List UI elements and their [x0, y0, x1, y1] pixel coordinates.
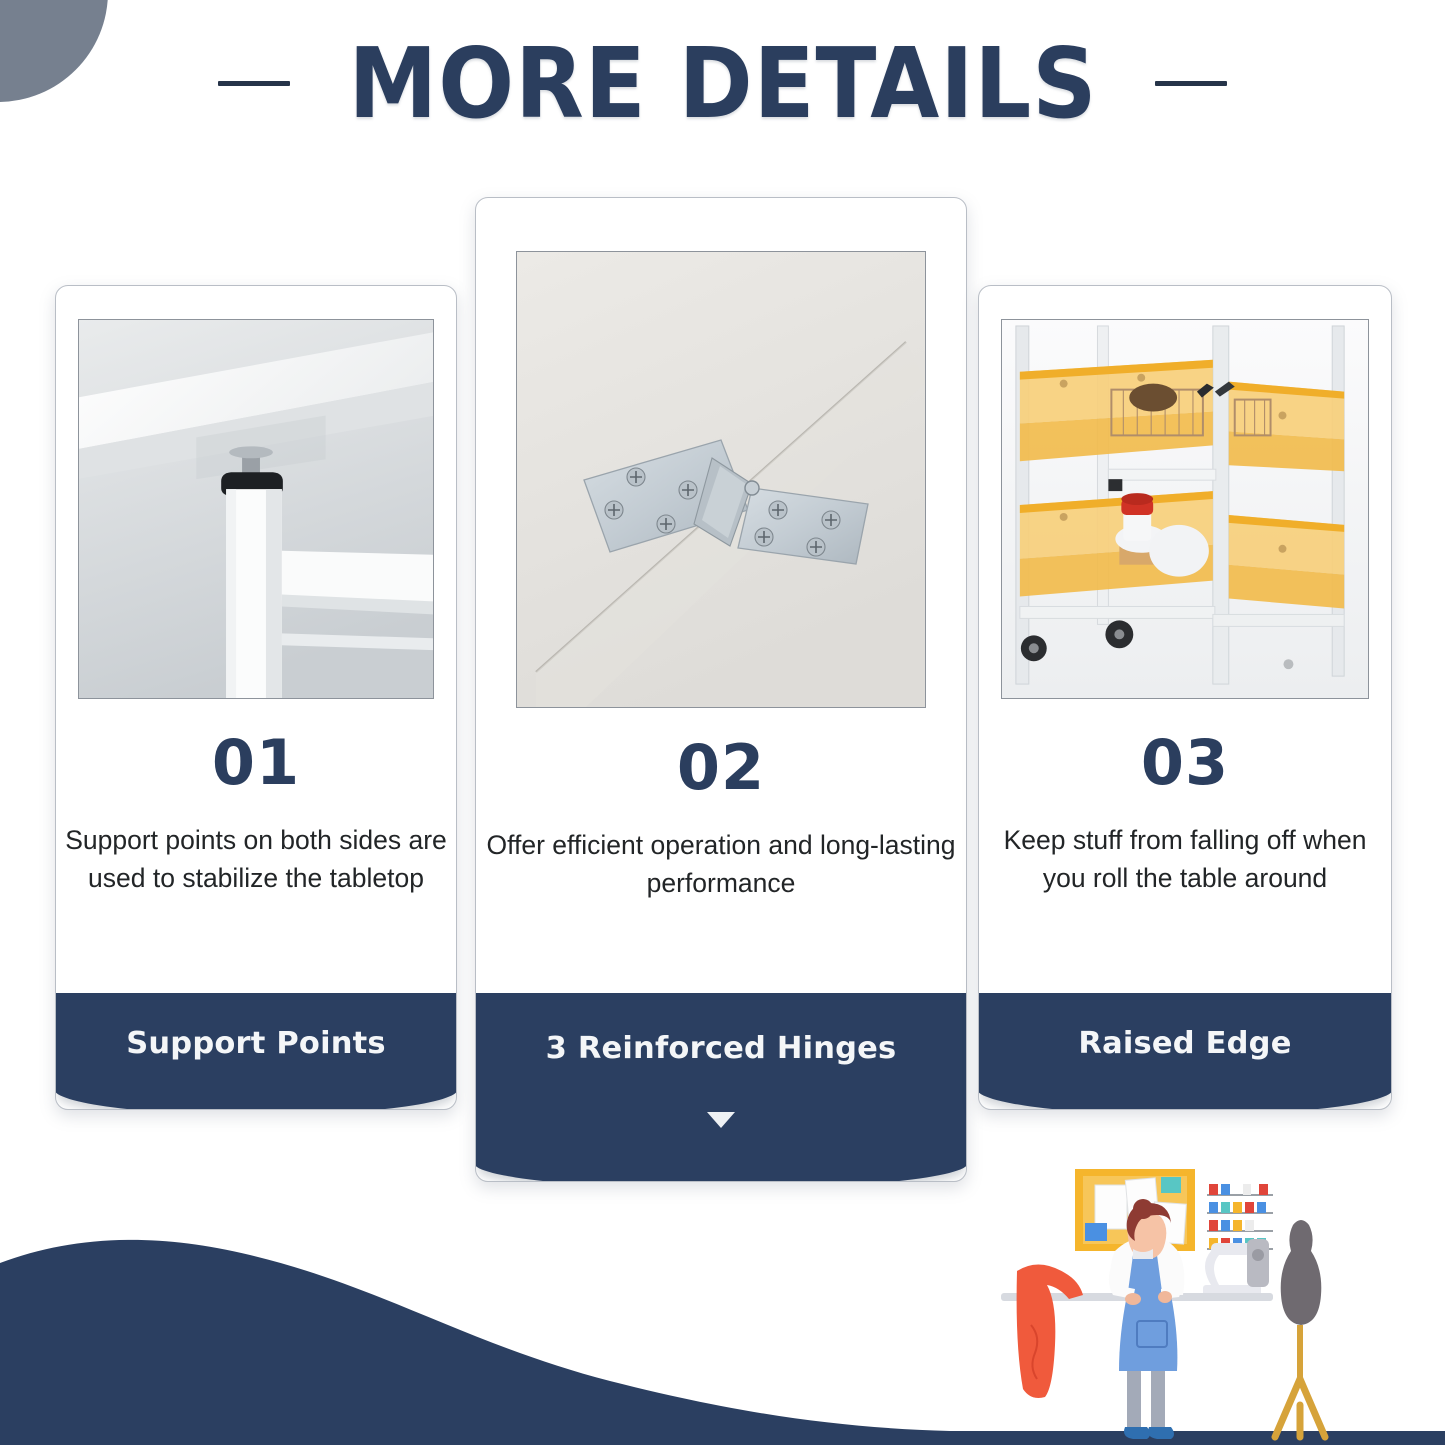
sewing-room-illustration [975, 1155, 1445, 1445]
card-banner-label: Raised Edge [1078, 1026, 1291, 1061]
red-fabric-icon [1017, 1264, 1083, 1398]
card-description: Offer efficient operation and long-lasti… [482, 826, 960, 902]
card-banner: Raised Edge [978, 993, 1392, 1110]
card-number: 02 [476, 731, 966, 804]
card-photo-support-point [78, 319, 434, 699]
detail-cards-container: 01 Support points on both sides are used… [0, 0, 1445, 1200]
card-banner-label: 3 Reinforced Hinges [546, 1031, 897, 1066]
detail-card-support-points[interactable]: 01 Support points on both sides are used… [55, 285, 457, 1110]
card-banner-label: Support Points [126, 1026, 386, 1061]
detail-card-raised-edge[interactable]: 03 Keep stuff from falling off when you … [978, 285, 1392, 1110]
detail-card-reinforced-hinges[interactable]: 02 Offer efficient operation and long-la… [475, 197, 967, 1182]
card-description: Keep stuff from falling off when you rol… [985, 821, 1385, 897]
card-photo-raised-edge [1001, 319, 1369, 699]
card-banner: Support Points [55, 993, 457, 1110]
card-number: 03 [979, 726, 1391, 799]
dress-form-mannequin-icon [1275, 1220, 1325, 1437]
card-number: 01 [56, 726, 456, 799]
card-banner: 3 Reinforced Hinges [475, 993, 967, 1182]
sewing-machine-icon [1203, 1239, 1269, 1297]
chevron-down-icon[interactable] [707, 1112, 735, 1128]
card-photo-hinge [516, 251, 926, 708]
card-description: Support points on both sides are used to… [62, 821, 450, 897]
